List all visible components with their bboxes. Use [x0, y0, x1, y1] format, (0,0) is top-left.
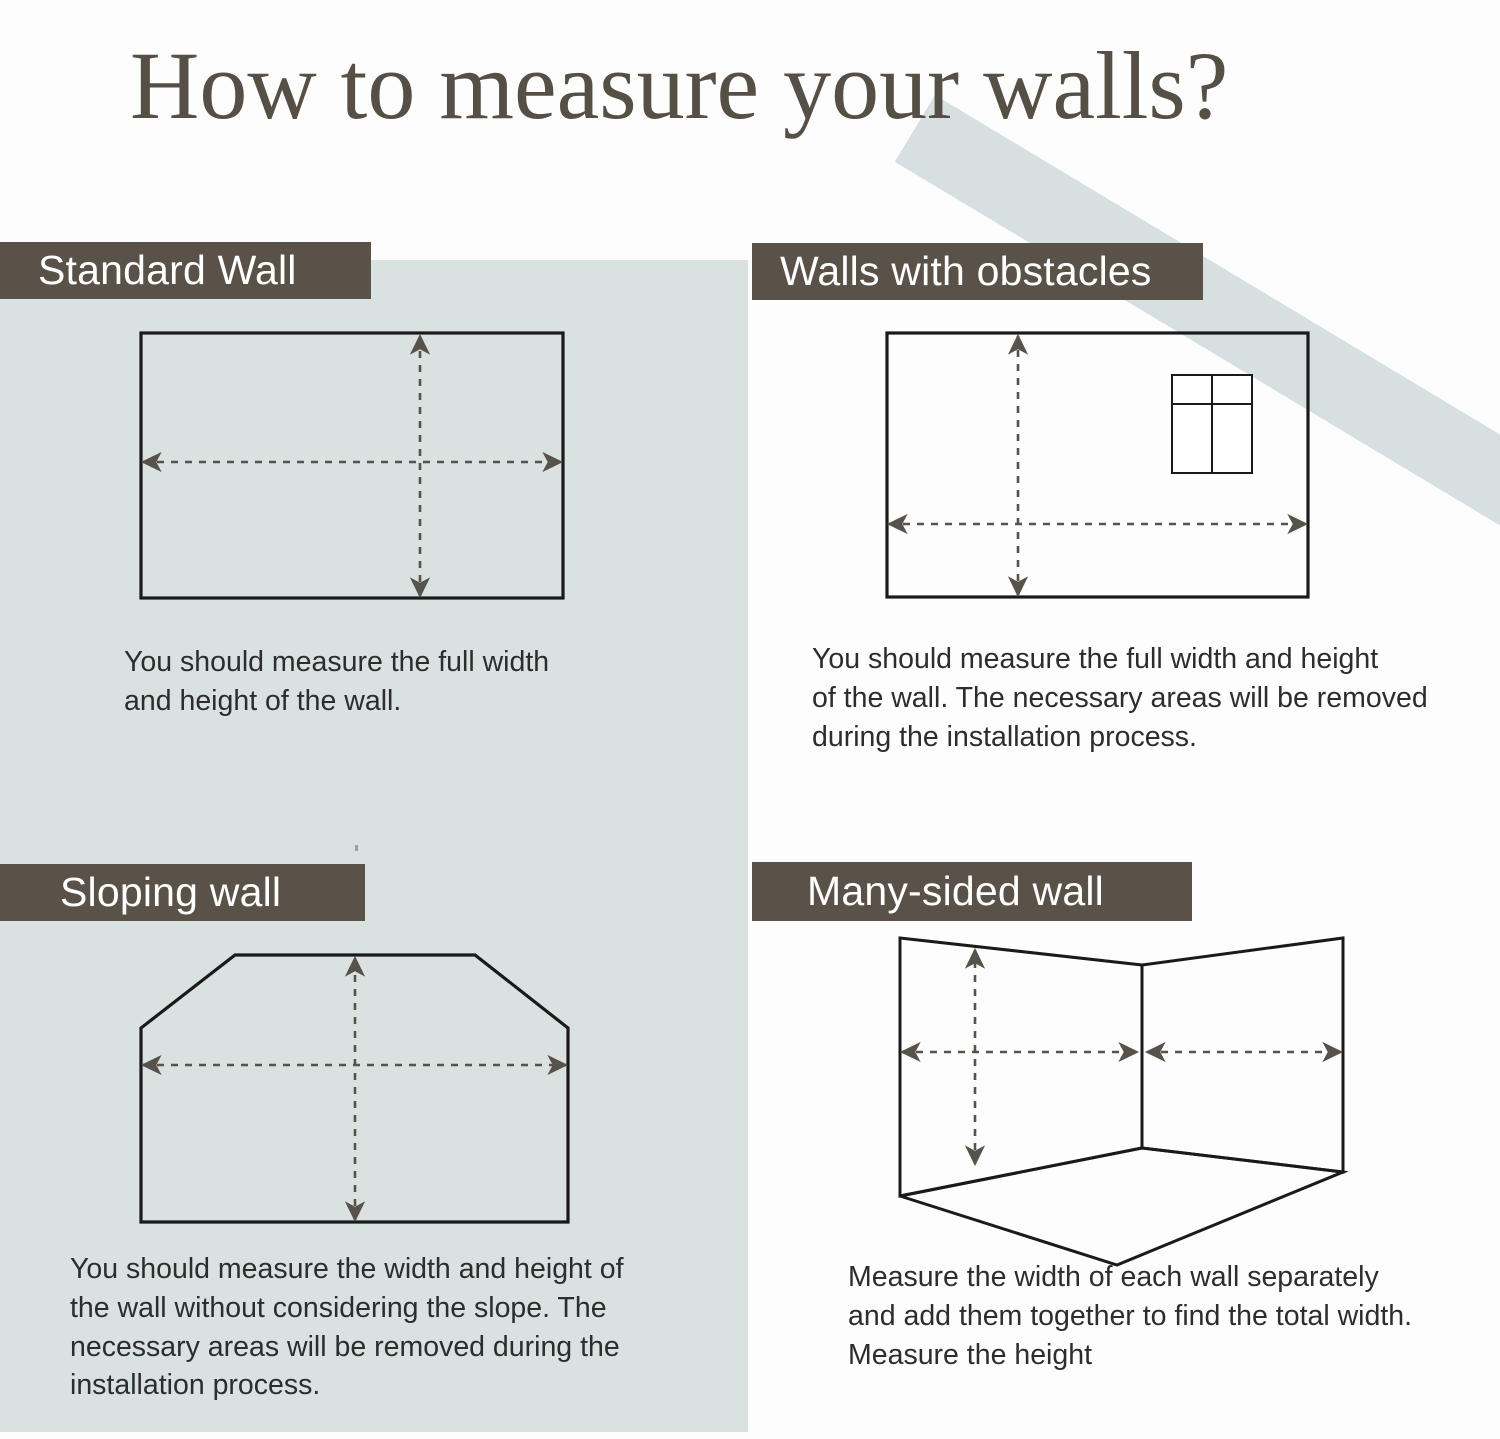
- speck-artifact: [355, 845, 358, 851]
- floor-face: [900, 1148, 1343, 1265]
- left-wall-face: [900, 938, 1142, 1196]
- diagram-many-sided-wall: [900, 938, 1343, 1265]
- caption-many-sided-wall: Measure the width of each wall separatel…: [848, 1258, 1468, 1374]
- section-header-walls-with-obstacles: Walls with obstacles: [752, 243, 1203, 300]
- infographic-canvas: How to measure your walls? Standard Wall…: [0, 0, 1500, 1439]
- section-header-many-sided-wall: Many-sided wall: [752, 862, 1192, 921]
- section-heading-label: Standard Wall: [38, 247, 297, 294]
- section-heading-label: Many-sided wall: [807, 868, 1104, 915]
- caption-sloping-wall: You should measure the width and height …: [70, 1250, 690, 1405]
- caption-walls-with-obstacles: You should measure the full width and he…: [812, 640, 1472, 756]
- section-heading-label: Walls with obstacles: [780, 248, 1152, 295]
- section-header-sloping-wall: Sloping wall: [0, 864, 365, 921]
- caption-standard-wall: You should measure the full width and he…: [124, 643, 684, 721]
- page-title: How to measure your walls?: [130, 36, 1228, 137]
- diagram-walls-with-obstacles: [887, 333, 1308, 597]
- decorative-diagonal-band: [895, 95, 1500, 703]
- window-icon: [1172, 375, 1252, 473]
- right-wall-face: [1142, 938, 1343, 1172]
- section-header-standard-wall: Standard Wall: [0, 242, 371, 299]
- wall-outline-rect: [887, 333, 1308, 597]
- window-frame: [1172, 375, 1252, 473]
- section-heading-label: Sloping wall: [60, 869, 281, 916]
